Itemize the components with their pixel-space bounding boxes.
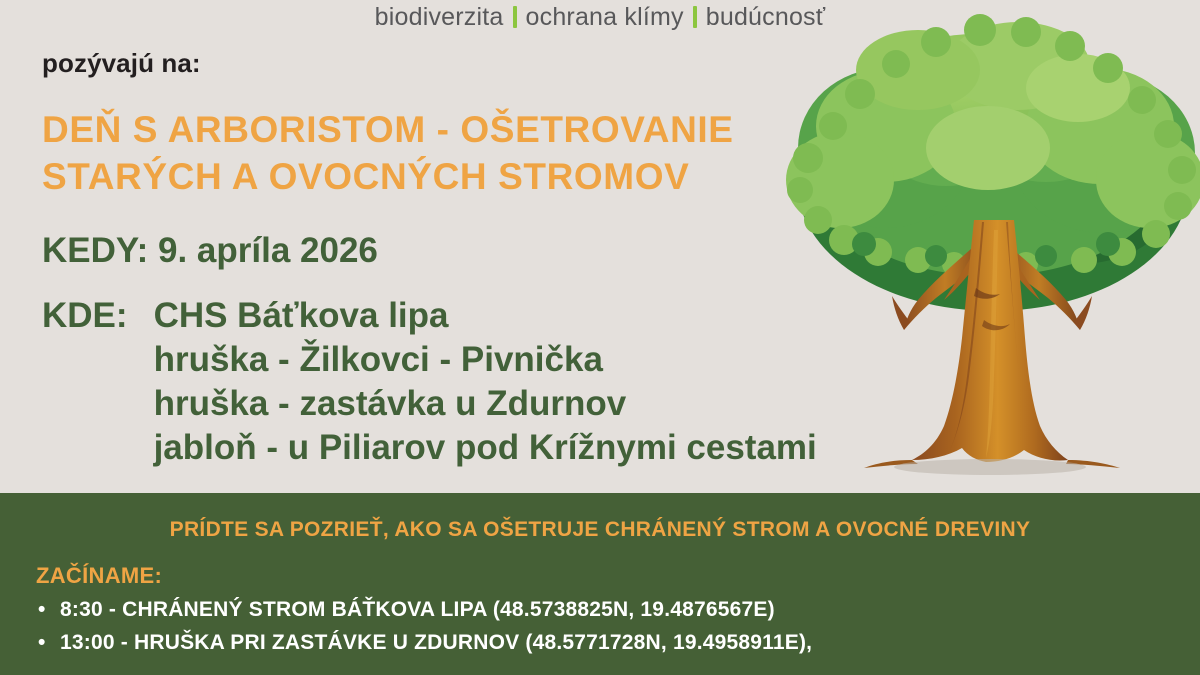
location-item: hruška - zastávka u Zdurnov — [154, 382, 817, 426]
tagline-part-3: budúcnosť — [706, 3, 826, 31]
tree-illustration — [778, 8, 1200, 478]
event-title-line-1: DEŇ S ARBORISTOM - OŠETROVANIE — [42, 106, 817, 153]
canopy-mid-layer — [798, 40, 1195, 276]
bottom-banner: PRÍDTE SA POZRIEŤ, AKO SA OŠETRUJE CHRÁN… — [0, 493, 1200, 675]
poster-canvas: biodiverzitaochrana klímybudúcnosť — [0, 0, 1200, 675]
event-title-line-2: STARÝCH A OVOCNÝCH STROMOV — [42, 153, 817, 200]
tree-trunk — [912, 220, 1068, 462]
location-item: CHS Báťkova lipa — [154, 294, 817, 338]
tree-branches — [892, 238, 1092, 330]
tagline-part-2: ochrana klímy — [526, 3, 684, 31]
bullet-icon: • — [38, 593, 46, 626]
event-title: DEŇ S ARBORISTOM - OŠETROVANIE STARÝCH A… — [42, 106, 817, 200]
schedule-item: • 13:00 - HRUŠKA PRI ZASTÁVKE U ZDURNOV … — [60, 626, 1200, 659]
upper-content: pozývajú na: DEŇ S ARBORISTOM - OŠETROVA… — [42, 48, 817, 470]
banner-headline: PRÍDTE SA POZRIEŤ, AKO SA OŠETRUJE CHRÁN… — [0, 493, 1200, 542]
canopy-edge-texture-dark — [852, 232, 1120, 271]
location-item: jabloň - u Piliarov pod Krížnymi cestami — [154, 426, 817, 470]
invite-line: pozývajú na: — [42, 48, 817, 78]
location-item: hruška - Žilkovci - Pivnička — [154, 338, 817, 382]
tagline-separator-icon — [693, 6, 697, 28]
tagline-separator-icon — [513, 6, 517, 28]
schedule-list: • 8:30 - CHRÁNENÝ STROM BÁŤKOVA LIPA (48… — [0, 593, 1200, 659]
tree-roots — [864, 459, 1120, 475]
event-locations: KDE: CHS Báťkova lipa hruška - Žilkovci … — [42, 294, 817, 470]
where-label: KDE: — [42, 294, 154, 338]
schedule-item-text: 8:30 - CHRÁNENÝ STROM BÁŤKOVA LIPA (48.5… — [60, 598, 775, 621]
schedule-label: ZAČÍNAME: — [36, 563, 1200, 589]
canopy-dark-layer — [797, 55, 1196, 311]
location-list: CHS Báťkova lipa hruška - Žilkovci - Piv… — [154, 294, 817, 470]
event-date: KEDY: 9. apríla 2026 — [42, 230, 817, 272]
schedule-item-text: 13:00 - HRUŠKA PRI ZASTÁVKE U ZDURNOV (4… — [60, 631, 812, 654]
schedule-item: • 8:30 - CHRÁNENÝ STROM BÁŤKOVA LIPA (48… — [60, 593, 1200, 626]
canopy-edge-texture — [787, 14, 1196, 276]
bullet-icon: • — [38, 626, 46, 659]
tagline-strip: biodiverzitaochrana klímybudúcnosť — [0, 2, 1200, 32]
canopy-light-layer — [786, 22, 1200, 228]
tagline-part-1: biodiverzita — [375, 3, 504, 31]
